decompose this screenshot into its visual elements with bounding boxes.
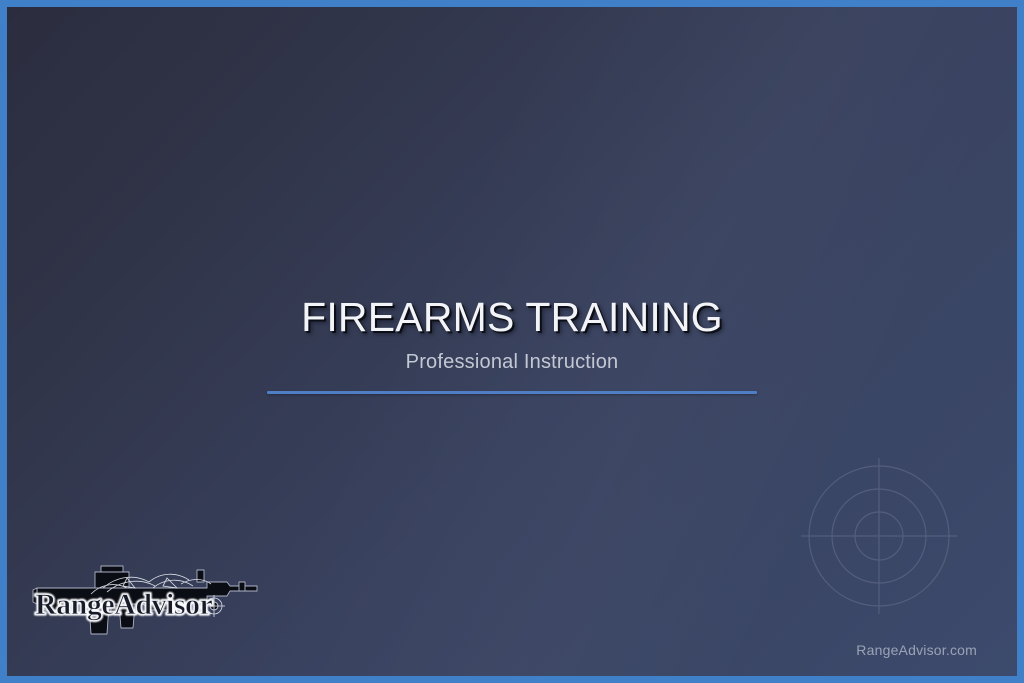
- target-ring-middle: [832, 489, 926, 583]
- slide-canvas: FIREARMS TRAINING Professional Instructi…: [7, 7, 1017, 676]
- rangeadvisor-logo: RangeAdvisor RangeAdvisor RangeAdvisor: [31, 558, 263, 646]
- presentation-slide: FIREARMS TRAINING Professional Instructi…: [0, 0, 1024, 683]
- target-ring-inner: [855, 512, 903, 560]
- target-crosshair-icon: [794, 451, 964, 621]
- footer-url: RangeAdvisor.com: [856, 642, 977, 658]
- title-block: FIREARMS TRAINING Professional Instructi…: [7, 296, 1017, 394]
- accent-rule-divider: [267, 391, 757, 394]
- page-title: FIREARMS TRAINING: [7, 296, 1017, 339]
- page-subtitle: Professional Instruction: [7, 351, 1017, 374]
- logo-wordmark: RangeAdvisor: [35, 588, 213, 621]
- target-ring-outer: [809, 466, 949, 606]
